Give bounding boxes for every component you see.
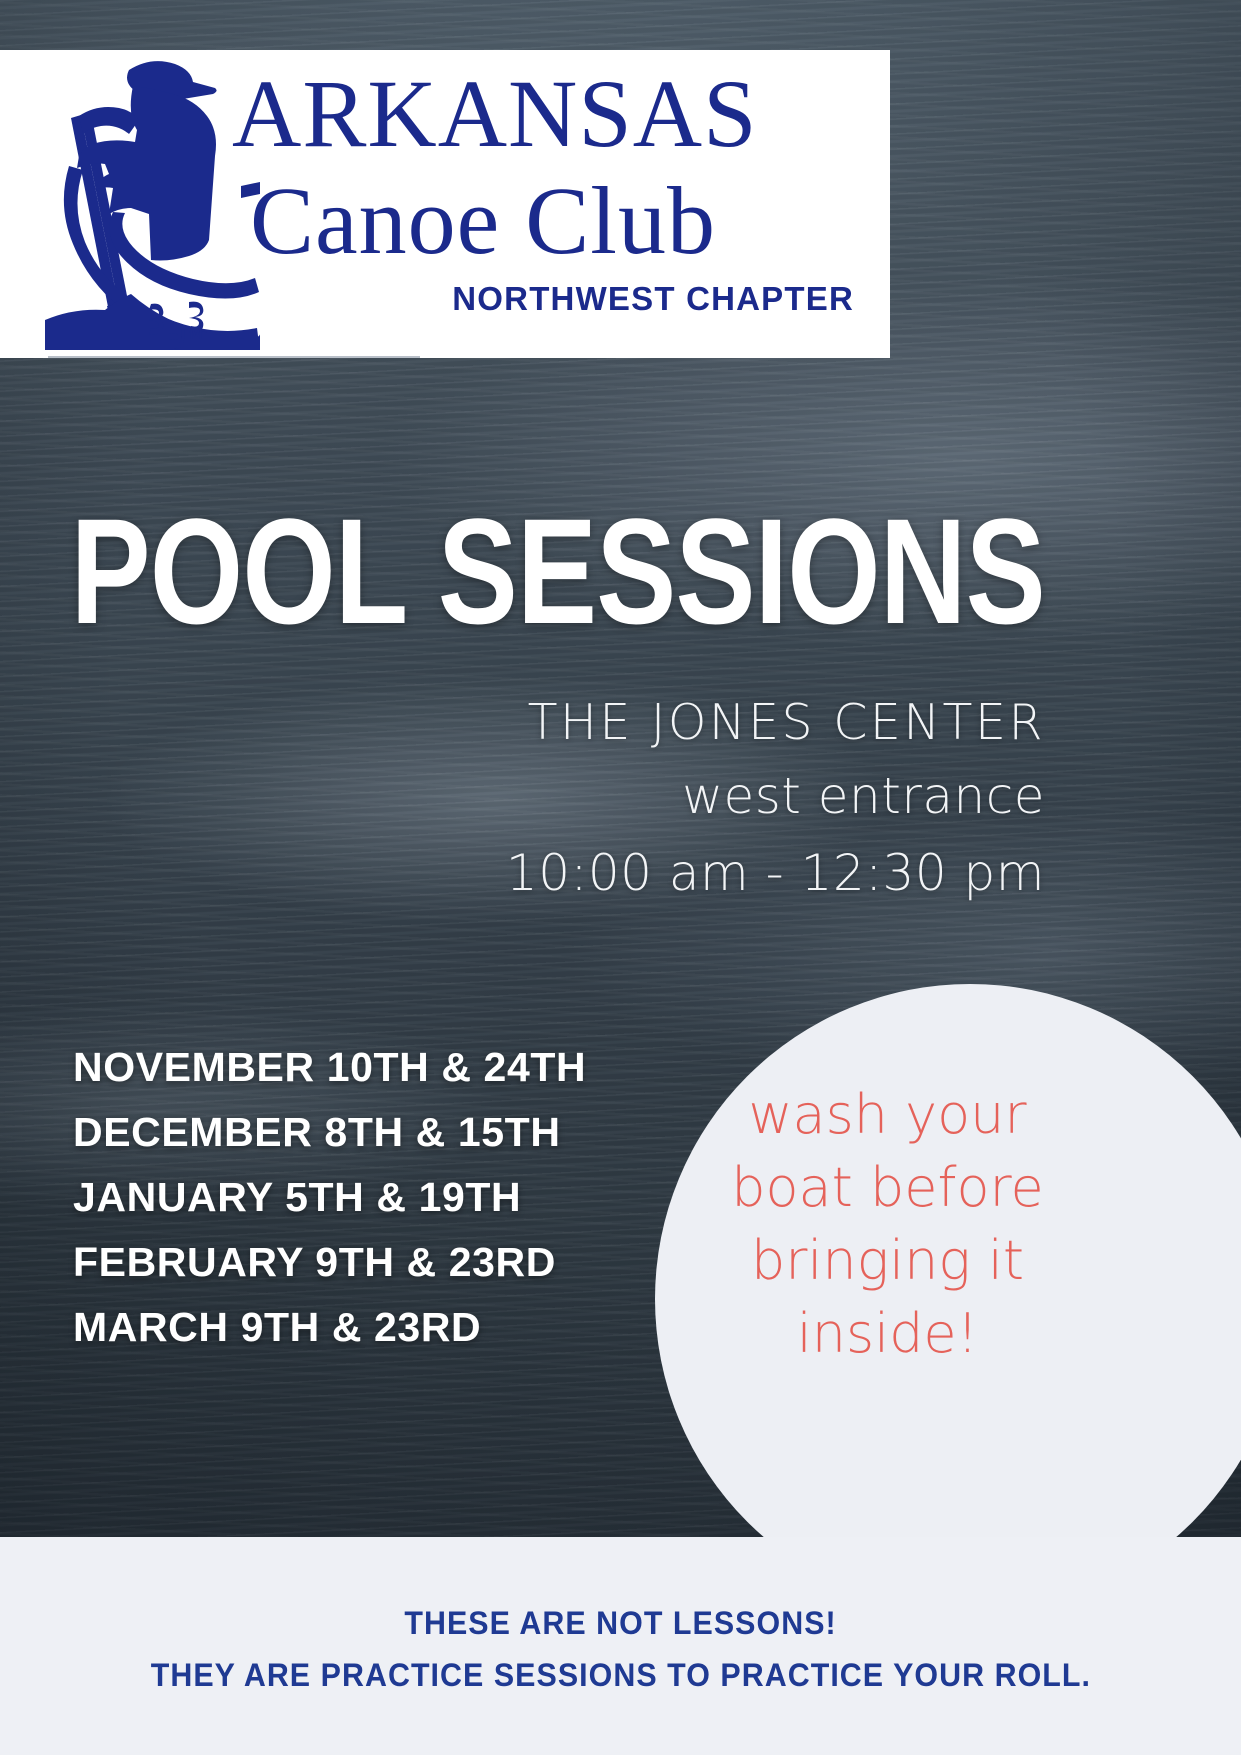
list-item: MARCH 9TH & 23RD [73, 1295, 586, 1360]
venue-name: THE JONES CENTER [506, 688, 1045, 758]
logo-trademark: TM [178, 324, 204, 344]
venue-entrance: west entrance [506, 758, 1045, 834]
list-item: NOVEMBER 10TH & 24TH [73, 1035, 586, 1100]
session-date-list: NOVEMBER 10TH & 24TH DECEMBER 8TH & 15TH… [73, 1035, 586, 1360]
footer-line-2: THEY ARE PRACTICE SESSIONS TO PRACTICE Y… [150, 1649, 1090, 1701]
paddler-canoe-icon [45, 58, 260, 350]
footer-line-1: THESE ARE NOT LESSONS! [404, 1597, 836, 1649]
session-time: 10:00 am - 12:30 pm [506, 834, 1045, 912]
footer-disclaimer: THESE ARE NOT LESSONS! THEY ARE PRACTICE… [0, 1597, 1241, 1701]
notice-line-2: boat before [700, 1151, 1075, 1224]
page-title: POOL SESSIONS [71, 496, 1045, 646]
list-item: DECEMBER 8TH & 15TH [73, 1100, 586, 1165]
logo-line-arkansas: ARKANSAS [232, 60, 872, 168]
notice-line-1: wash your [700, 1078, 1075, 1151]
poster-root: TM ARKANSAS Canoe Club NORTHWEST CHAPTER… [0, 0, 1241, 1755]
list-item: JANUARY 5TH & 19TH [73, 1165, 586, 1230]
subtitle-block: THE JONES CENTER west entrance 10:00 am … [506, 688, 1045, 912]
logo-wordmark: ARKANSAS Canoe Club NORTHWEST CHAPTER [232, 60, 872, 318]
notice-line-3: bringing it [700, 1224, 1075, 1297]
footer-bar: THESE ARE NOT LESSONS! THEY ARE PRACTICE… [0, 1537, 1241, 1755]
list-item: FEBRUARY 9TH & 23RD [73, 1230, 586, 1295]
logo-underline-rule [48, 356, 420, 358]
logo-box: TM ARKANSAS Canoe Club NORTHWEST CHAPTER [0, 50, 890, 358]
wash-boat-notice: wash your boat before bringing it inside… [700, 1078, 1075, 1370]
notice-line-4: inside! [700, 1297, 1075, 1370]
logo-line-chapter: NORTHWEST CHAPTER [232, 280, 872, 318]
logo-line-canoe-club: Canoe Club [250, 168, 872, 274]
